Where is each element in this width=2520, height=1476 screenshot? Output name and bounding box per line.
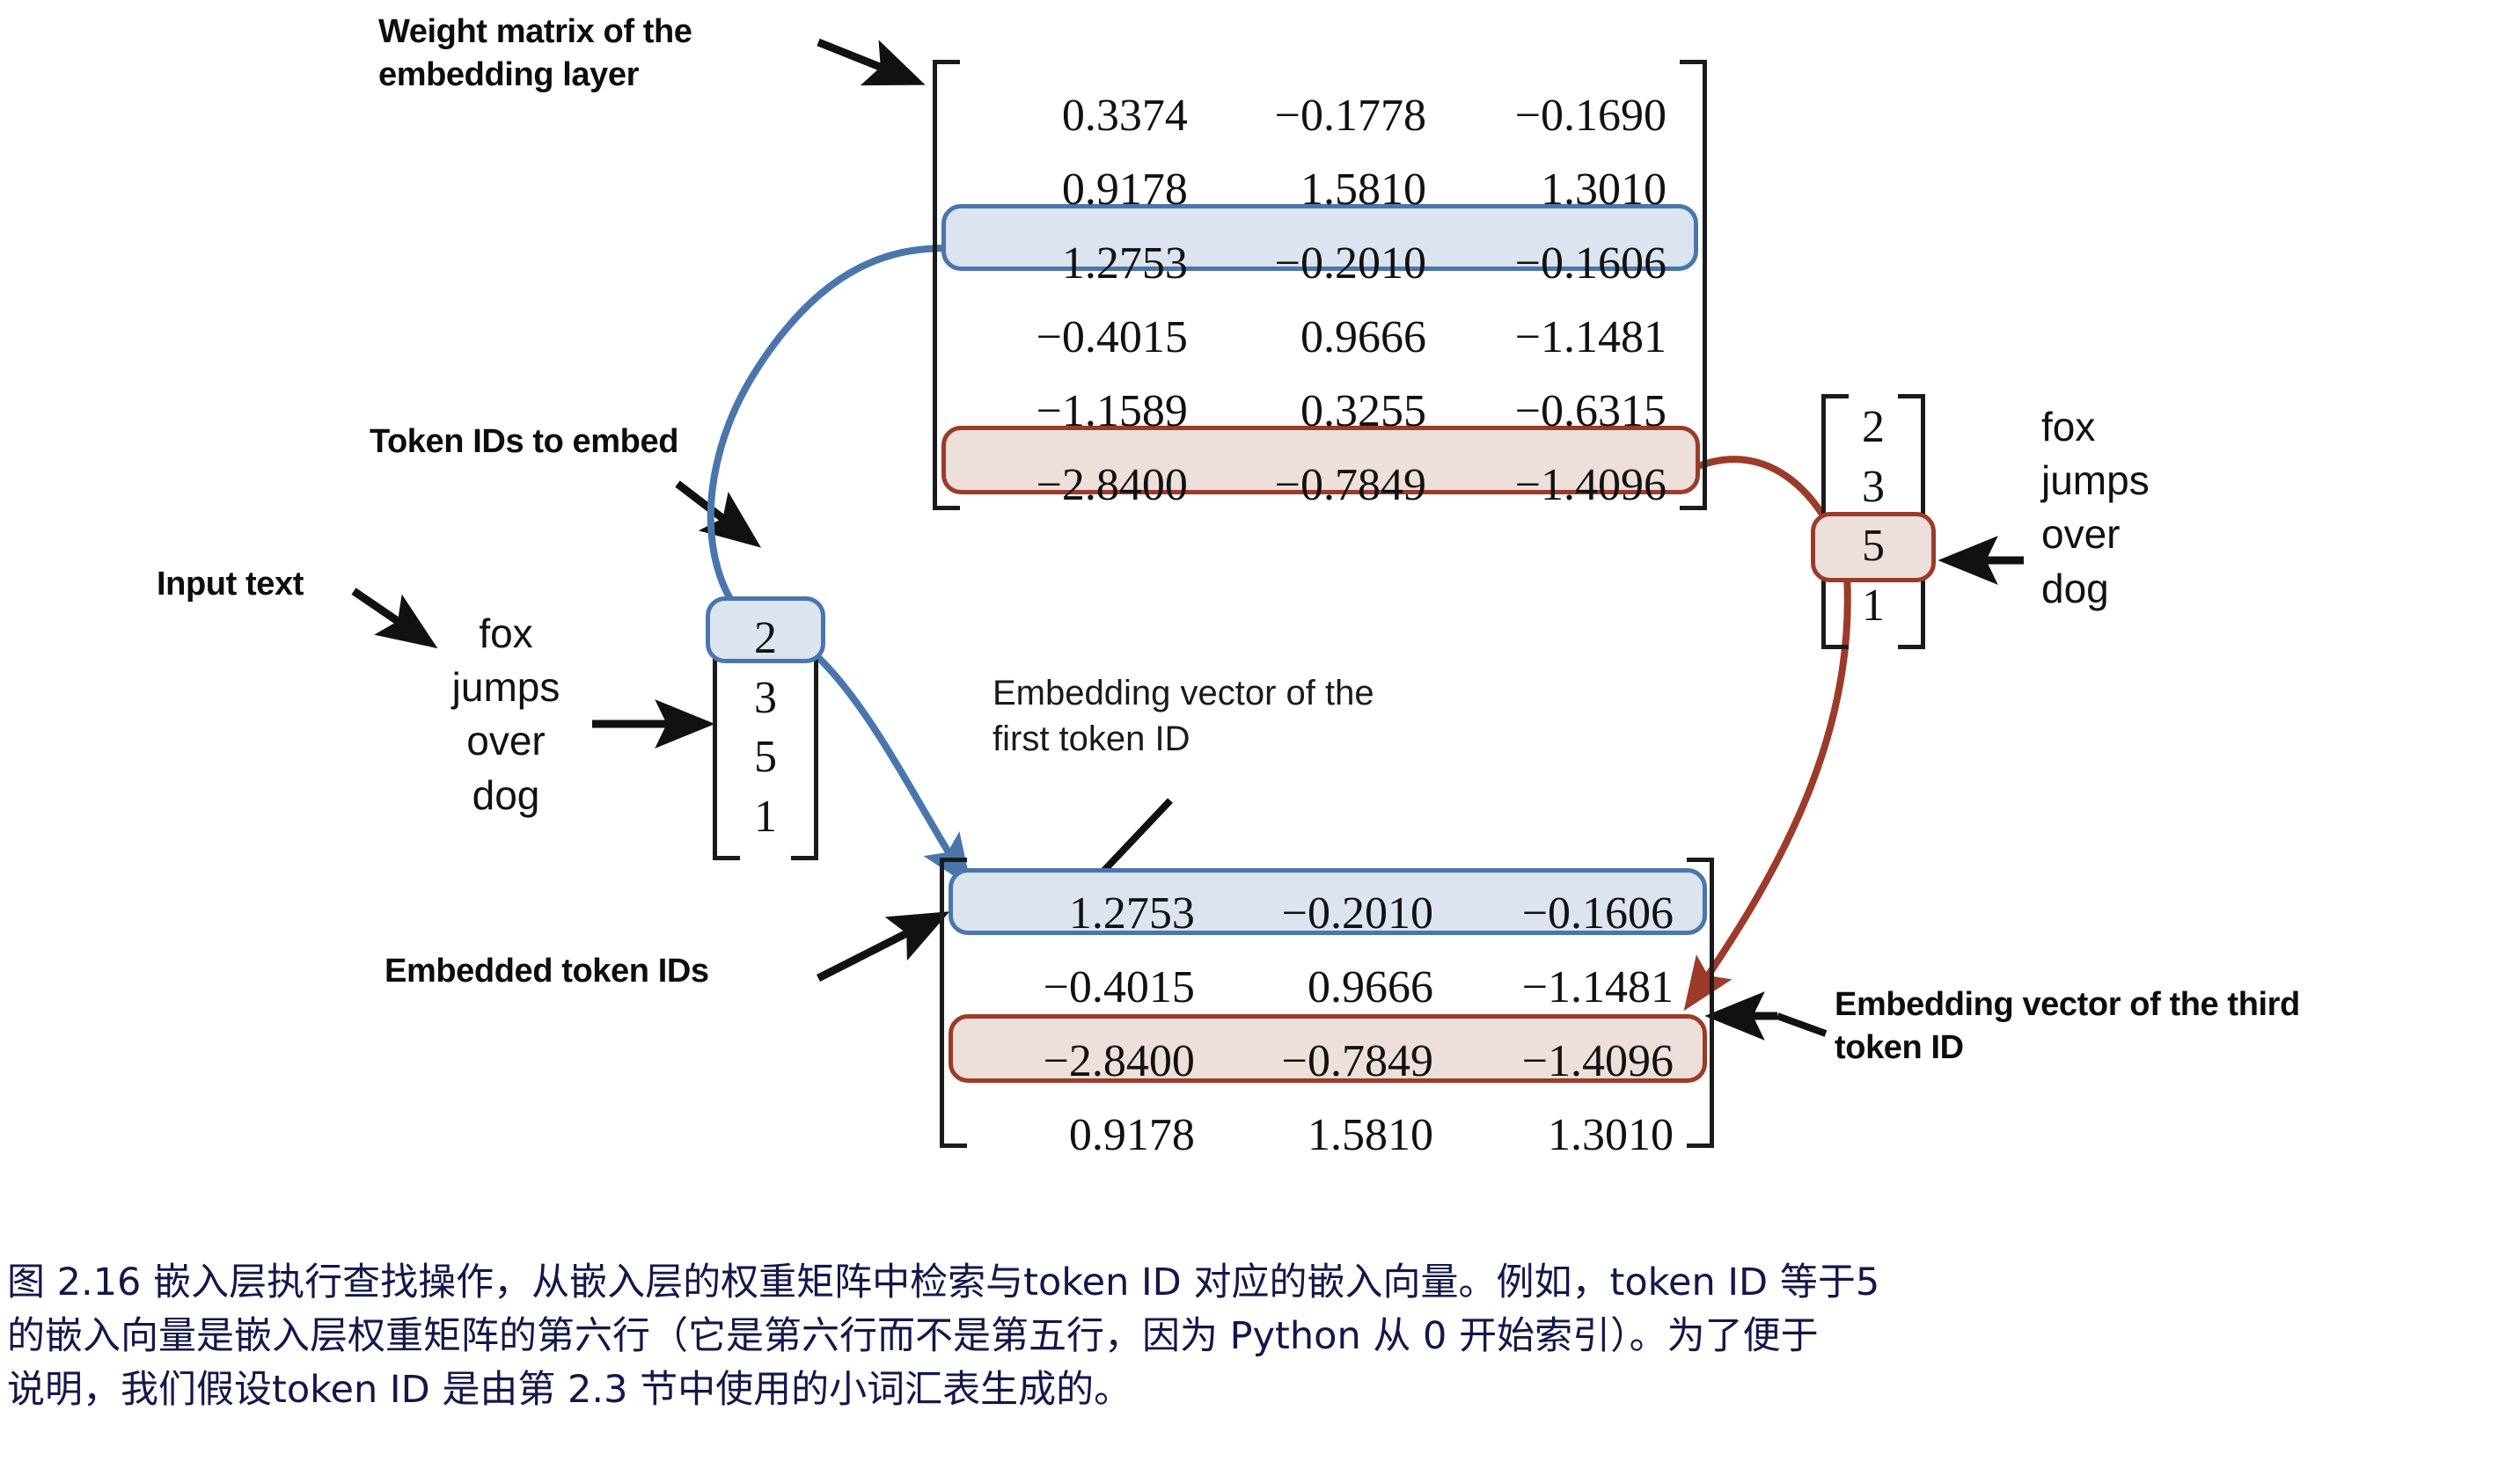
- embedded-matrix: 1.2753 −0.2010 −0.1606 −0.4015 0.9666 −1…: [940, 858, 1714, 1148]
- label-token-ids-to-embed: Token IDs to embed: [370, 420, 678, 464]
- caption-line: 的嵌入向量是嵌入层权重矩阵的第六行（它是第六行而不是第五行，因为 Python …: [7, 1310, 2520, 1363]
- input-word: dog: [414, 769, 598, 822]
- caption-line: 说明，我们假设token ID 是由第 2.3 节中使用的小词汇表生成的。: [7, 1363, 2520, 1417]
- label-embedding-vector-third: Embedding vector of the third token ID: [1835, 983, 2300, 1070]
- token-id-cell: 3: [713, 669, 818, 728]
- matrix-cell: −1.1481: [1432, 315, 1672, 361]
- matrix-cell: −1.1481: [1439, 965, 1679, 1011]
- matrix-cell: −0.4015: [971, 315, 1193, 361]
- matrix-cell: 1.3010: [1439, 1113, 1679, 1158]
- matrix-cell: 0.9666: [1193, 315, 1432, 361]
- curve-blue-lookup: [711, 248, 949, 651]
- matrix-cell: −0.1606: [1439, 891, 1679, 937]
- matrix-cell: −1.1589: [971, 389, 1193, 435]
- token-id-vector-left: 2 3 5 1: [713, 605, 818, 860]
- matrix-cell: −0.1690: [1432, 93, 1672, 139]
- matrix-cell: −0.4015: [978, 965, 1200, 1011]
- caption-line: 图 2.16 嵌入层执行查找操作，从嵌入层的权重矩阵中检索与token ID 对…: [7, 1256, 2520, 1310]
- weight-matrix: 0.3374 −0.1778 −0.1690 0.9178 1.5810 1.3…: [933, 60, 1707, 510]
- matrix-cell: −0.1606: [1432, 241, 1672, 287]
- figure-caption: 图 2.16 嵌入层执行查找操作，从嵌入层的权重矩阵中检索与token ID 对…: [7, 1256, 2520, 1417]
- matrix-cell: −0.6315: [1432, 389, 1672, 435]
- token-id-cell: 3: [1821, 457, 1925, 517]
- matrix-cell: 0.3255: [1193, 389, 1432, 435]
- right-word: jumps: [2041, 454, 2261, 508]
- matrix-cell: −0.2010: [1193, 241, 1432, 287]
- matrix-cell: 1.5810: [1193, 167, 1432, 213]
- matrix-cell: −2.8400: [971, 463, 1193, 508]
- matrix-cell: 0.9666: [1200, 965, 1439, 1011]
- leader-embedding-vector-third: [1777, 1016, 1826, 1034]
- matrix-cell: −1.4096: [1432, 463, 1672, 508]
- right-words: fox jumps over dog: [2041, 400, 2261, 616]
- matrix-cell: −2.8400: [978, 1039, 1200, 1085]
- matrix-row: −1.1589 0.3255 −0.6315: [971, 375, 1672, 449]
- matrix-cell: 1.2753: [971, 241, 1193, 287]
- matrix-cell: −0.1778: [1193, 93, 1432, 139]
- label-embedding-vector-first: Embedding vector of the first token ID: [993, 670, 1374, 762]
- token-id-cell: 1: [713, 787, 818, 847]
- matrix-cell: 0.3374: [971, 93, 1193, 139]
- matrix-cell: 1.5810: [1200, 1113, 1439, 1158]
- matrix-cell: 0.9178: [978, 1113, 1200, 1158]
- matrix-cell: 1.3010: [1432, 167, 1672, 213]
- token-id-cell: 2: [1821, 398, 1925, 457]
- right-word: dog: [2041, 562, 2261, 616]
- matrix-row: 0.3374 −0.1778 −0.1690: [971, 79, 1672, 153]
- matrix-row: −2.8400 −0.7849 −1.4096: [978, 1025, 1679, 1099]
- token-id-cell: 2: [713, 609, 818, 669]
- token-id-vector-right: 2 3 5 1: [1821, 394, 1925, 649]
- matrix-row: −0.4015 0.9666 −1.1481: [971, 301, 1672, 375]
- matrix-cell: 0.9178: [971, 167, 1193, 213]
- matrix-cell: 1.2753: [978, 891, 1200, 937]
- input-word: over: [414, 714, 598, 768]
- curve-blue-result: [811, 651, 966, 880]
- right-word: over: [2041, 508, 2261, 561]
- matrix-row: 0.9178 1.5810 1.3010: [978, 1099, 1679, 1173]
- matrix-row: −2.8400 −0.7849 −1.4096: [971, 449, 1672, 522]
- token-id-cell: 5: [1821, 516, 1925, 576]
- matrix-row: −0.4015 0.9666 −1.1481: [978, 951, 1679, 1025]
- matrix-row: 0.9178 1.5810 1.3010: [971, 153, 1672, 227]
- matrix-cell: −0.7849: [1200, 1039, 1439, 1085]
- input-word: jumps: [414, 661, 598, 714]
- arrow-weight-matrix: [818, 42, 915, 81]
- token-id-cell: 1: [1821, 576, 1925, 636]
- arrow-embedded-token-ids: [818, 917, 940, 978]
- matrix-cell: −0.7849: [1193, 463, 1432, 508]
- matrix-row: 1.2753 −0.2010 −0.1606: [971, 227, 1672, 301]
- label-embedded-token-ids: Embedded token IDs: [385, 950, 709, 993]
- input-text-words: fox jumps over dog: [414, 607, 598, 822]
- matrix-cell: −1.4096: [1439, 1039, 1679, 1085]
- right-word: fox: [2041, 400, 2261, 454]
- matrix-cell: −0.2010: [1200, 891, 1439, 937]
- matrix-row: 1.2753 −0.2010 −0.1606: [978, 877, 1679, 951]
- token-id-cell: 5: [713, 727, 818, 787]
- input-word: fox: [414, 607, 598, 661]
- label-weight-matrix: Weight matrix of the embedding layer: [378, 11, 692, 98]
- label-input-text: Input text: [157, 563, 304, 606]
